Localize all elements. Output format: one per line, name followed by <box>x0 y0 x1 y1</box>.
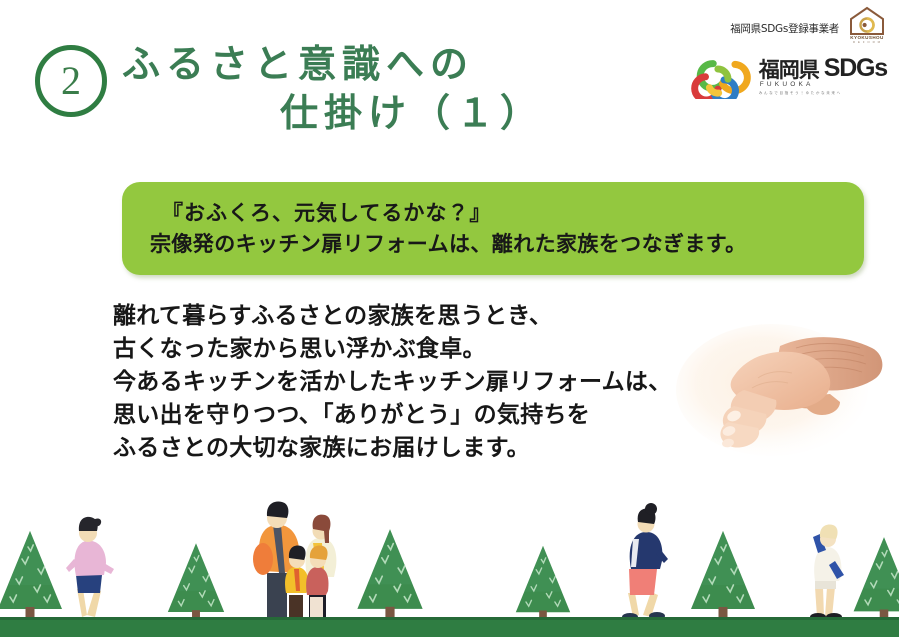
title-lines: ふるさと意識への 仕掛け（１） <box>122 40 640 137</box>
slide-root: 福岡県SDGs登録事業者 KYOKUSHOU R E F O R M <box>0 0 899 637</box>
sdgs-wordmark-top: 福岡県 SDGs <box>759 56 887 81</box>
house-icon <box>847 6 887 36</box>
sdgs-wordmark: 福岡県 SDGs FUKUOKA みんなで目指そう！ゆたかな未来へ <box>759 56 887 95</box>
body-paragraph: 離れて暮らすふるさとの家族を思うとき、 古くなった家から思い浮かぶ食卓。 今ある… <box>113 300 753 466</box>
section-number-badge: 2 <box>35 45 107 117</box>
fukuoka-sdgs-logo: 福岡県 SDGs FUKUOKA みんなで目指そう！ゆたかな未来へ <box>690 53 887 99</box>
sdgs-circle-mark-icon <box>690 53 752 99</box>
registration-label: 福岡県SDGs登録事業者 <box>730 21 839 36</box>
body-line: 今あるキッチンを活かしたキッチン扉リフォームは、 <box>113 366 753 399</box>
title-line-1: ふるさと意識への <box>122 40 640 89</box>
body-line: ふるさとの大切な家族にお届けします。 <box>113 432 753 465</box>
section-number: 2 <box>61 61 81 101</box>
body-line: 古くなった家から思い浮かぶ食卓。 <box>113 333 753 366</box>
kyokushou-house-badge: KYOKUSHOU R E F O R M <box>845 6 889 50</box>
body-line: 離れて暮らすふるさとの家族を思うとき、 <box>113 300 753 333</box>
registration-row: 福岡県SDGs登録事業者 KYOKUSHOU R E F O R M <box>730 6 889 50</box>
house-badge-caption-sub: R E F O R M <box>853 40 881 44</box>
sdgs-jp-label: 福岡県 <box>759 60 819 81</box>
banner-line-2: 宗像発のキッチン扉リフォームは、離れた家族をつなぎます。 <box>150 229 864 259</box>
title-line-2: 仕掛け（１） <box>122 89 640 138</box>
logo-cluster: 福岡県SDGs登録事業者 KYOKUSHOU R E F O R M <box>639 6 889 99</box>
holding-hands-graphic <box>672 318 898 468</box>
forest-scene-graphic <box>0 477 899 637</box>
sdgs-en-label: SDGs <box>824 56 887 81</box>
forest-people-illustration <box>0 477 899 637</box>
banner-line-1: 『おふくろ、元気してるかな？』 <box>162 198 864 228</box>
sdgs-romaji: FUKUOKA <box>760 82 887 89</box>
holding-hands-photo <box>672 318 898 468</box>
title-block: 2 ふるさと意識への 仕掛け（１） <box>0 40 640 137</box>
sdgs-tagline: みんなで目指そう！ゆたかな未来へ <box>759 92 887 96</box>
headline-banner: 『おふくろ、元気してるかな？』 宗像発のキッチン扉リフォームは、離れた家族をつな… <box>122 182 864 275</box>
body-line: 思い出を守りつつ、「ありがとう」の気持ちを <box>113 399 753 432</box>
